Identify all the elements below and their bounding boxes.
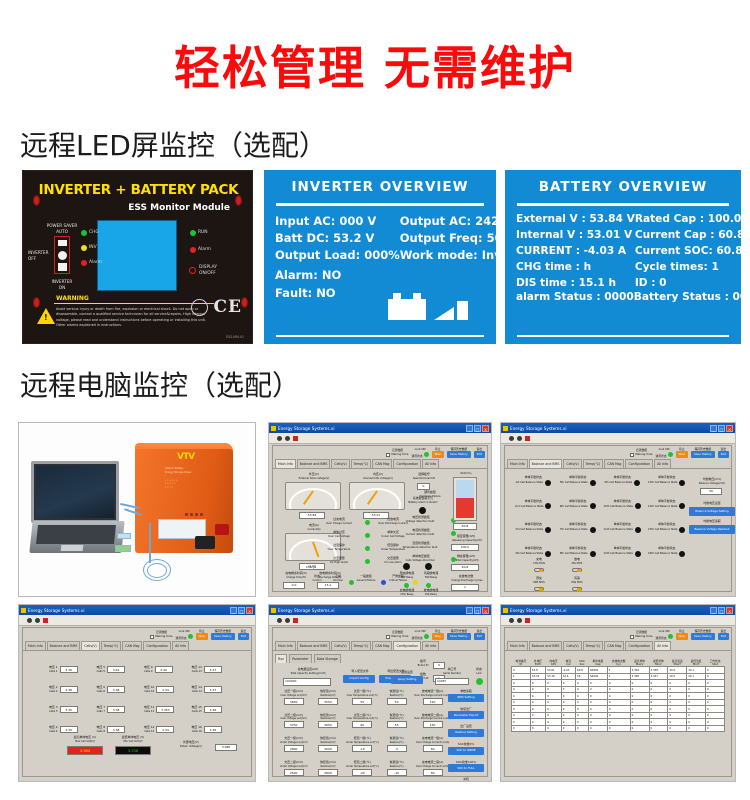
- stop-button[interactable]: Stop: [676, 633, 688, 640]
- tab-main-info[interactable]: Main Info: [25, 641, 46, 650]
- config-side-button[interactable]: Parameter Export: [448, 711, 484, 719]
- battery-overview-panel: BATTERY OVERVIEW External V : 53.84 V Ra…: [505, 170, 741, 344]
- tab-configuration[interactable]: Configuration: [393, 459, 421, 468]
- run-continuous-icon[interactable]: [35, 618, 40, 623]
- switch-position-top[interactable]: [58, 240, 67, 246]
- stop-group[interactable]: 停止 Stop: [196, 630, 208, 640]
- software-window-all-info: Energy Storage Systems.vi _ □ × 记录数据 Mak…: [500, 604, 736, 782]
- field-current: CURRENT : -4.03 A: [516, 245, 635, 257]
- exit-group[interactable]: 退出 Exit: [474, 630, 485, 640]
- balance-voltage-readout-button[interactable]: Balance Voltage Readout: [689, 525, 735, 534]
- cell-voltage-value: 3.42: [107, 666, 125, 673]
- tab-can-msg[interactable]: CAN Msg: [604, 459, 624, 468]
- cell-balance-led: [545, 480, 551, 486]
- record-checkbox[interactable]: [150, 635, 154, 639]
- inverter-overview-title: INVERTER OVERVIEW: [264, 170, 496, 195]
- config-side-button-group[interactable]: SOC校准100%SOC to FULL: [448, 761, 484, 773]
- serial-input[interactable]: COM3: [435, 678, 469, 685]
- tab-configuration[interactable]: Configuration: [625, 459, 653, 468]
- exit-group[interactable]: 退出 Exit: [238, 630, 249, 640]
- config-param-input[interactable]: 3550: [318, 698, 338, 705]
- tabbar[interactable]: Main Info Balance and BMS Cells(V) Temp(…: [273, 460, 487, 469]
- gauge-external-voltage: [285, 482, 341, 510]
- mos-1-toggle[interactable]: [534, 568, 544, 572]
- tab-cells[interactable]: Cells(V): [331, 459, 349, 468]
- led-inv-indicator: [81, 245, 87, 251]
- config-param-input[interactable]: 3000: [318, 745, 338, 752]
- cell-balance-grid: 单体平衡状态1st Cell Balance State单体平衡状态5th Ce…: [511, 476, 689, 557]
- run-icon[interactable]: [509, 618, 514, 623]
- config-side-buttons[interactable]: 参数读取BMS Setting恢复出厂Parameter Export出厂设置R…: [448, 690, 484, 782]
- config-param-input[interactable]: 2800: [318, 769, 338, 776]
- window-title: Energy Storage Systems.vi: [510, 426, 566, 431]
- config-param-input[interactable]: 150: [423, 721, 443, 728]
- field-label: Cycle times:: [635, 261, 708, 273]
- record-checkbox[interactable]: [630, 635, 634, 639]
- cell-balance-led: [679, 503, 685, 509]
- config-param-input[interactable]: 80: [423, 769, 443, 776]
- lv-toolbar[interactable]: [269, 615, 491, 626]
- config-param-input[interactable]: 50: [387, 698, 407, 705]
- config-param-item: 过压二级(mV)Over Voltage Lv2(mV)3750: [277, 714, 310, 729]
- prot-l3-en: Over Temperature: [315, 548, 363, 551]
- import-config-button[interactable]: Import Config: [343, 675, 375, 683]
- config-param-label-en: Under Voltage Lv2(mV): [277, 765, 310, 768]
- cell-balance-label-en: 14th Cell Balance State: [648, 505, 677, 508]
- lv-toolbar[interactable]: [501, 433, 735, 444]
- minimize-button[interactable]: _: [710, 425, 717, 432]
- save-label-cn: 保存历史数据: [691, 630, 715, 633]
- tab-temp[interactable]: Temp(℃): [351, 459, 372, 468]
- save-history-group[interactable]: 保存历史数据 Save History: [447, 448, 471, 458]
- field-unit: h: [584, 261, 592, 273]
- tab-all-info[interactable]: All Info: [654, 641, 671, 650]
- abort-icon[interactable]: [293, 436, 298, 441]
- stop-button[interactable]: Stop: [432, 633, 444, 640]
- tab-temp[interactable]: Temp(℃): [101, 641, 122, 650]
- cell-voltage-value: 3.36: [204, 726, 222, 733]
- field-cycle-times: Cycle times: 1: [635, 261, 741, 273]
- config-side-button[interactable]: SOC to 0/EMP: [448, 747, 484, 755]
- cell-balance-led: [634, 480, 640, 486]
- tab-all-info[interactable]: All Info: [172, 641, 189, 650]
- config-param-label-en: Restore(mV): [311, 694, 344, 697]
- cell-balance-label-en: 16th Cell Balance State: [648, 552, 677, 555]
- lv-toolbar[interactable]: [269, 433, 491, 444]
- table-body: 053.853.01-4.0360.86080013.3643.33830.53…: [512, 667, 725, 732]
- window-controls[interactable]: _ □ ×: [466, 425, 489, 432]
- save-label-cn: 保存历史数据: [211, 630, 235, 633]
- config-param-label-en: Under Voltage Lv1(mV): [277, 741, 310, 744]
- tab-main-info[interactable]: Main Info: [507, 641, 528, 650]
- tabbar[interactable]: Main Info Balance and BMS Cells(V) Temp(…: [505, 460, 731, 469]
- exit-group[interactable]: 退出 Exit: [718, 630, 729, 640]
- run-continuous-icon[interactable]: [285, 436, 290, 441]
- config-param-input[interactable]: -5: [387, 745, 407, 752]
- tab-configuration[interactable]: Configuration: [143, 641, 171, 650]
- tab-can-msg[interactable]: CAN Msg: [372, 641, 392, 650]
- save-history-group[interactable]: 保存历史数据 Save History: [691, 448, 715, 458]
- cell-balance-led: [590, 503, 596, 509]
- config-param-input[interactable]: 2500: [284, 769, 304, 776]
- comm-status-group: Link ON 通讯状态: [656, 448, 673, 458]
- config-param-label-en: Over Charge Current Lv2(A): [414, 765, 451, 768]
- save-history-button[interactable]: Save History: [211, 633, 235, 640]
- config-side-button-group[interactable]: 恢复出厂Parameter Export: [448, 708, 484, 720]
- stop-button[interactable]: Stop: [676, 451, 688, 458]
- tab-configuration[interactable]: Configuration: [393, 641, 421, 650]
- tab-balance-bms[interactable]: Balance and BMS: [529, 459, 563, 468]
- cell-voltage-item: 电压 16Cells 163.36: [192, 726, 240, 733]
- field-label: Current SOC:: [635, 245, 713, 257]
- field-value: 1: [711, 261, 718, 273]
- cur-cap-value: 60.8: [451, 564, 479, 571]
- config-param-item: 恢复值(mV)Restore(mV)2800: [311, 761, 344, 776]
- maximize-button[interactable]: □: [474, 607, 481, 614]
- tabbar[interactable]: Main Info Balance and BMS Cells(V) Temp(…: [273, 642, 487, 651]
- field-label: CURRENT :: [516, 245, 580, 257]
- field-value: 000: [339, 214, 363, 228]
- window-controls[interactable]: _ □ ×: [230, 607, 253, 614]
- close-button[interactable]: ×: [726, 425, 733, 432]
- tab-balance-bms[interactable]: Balance and BMS: [297, 459, 331, 468]
- stop-group[interactable]: 停止 Stop: [432, 630, 444, 640]
- rated-cap-value: 100.0: [451, 544, 479, 551]
- table-cell: 0: [687, 725, 706, 732]
- minimize-button[interactable]: _: [230, 607, 237, 614]
- config-side-button[interactable]: BMS Setting: [448, 694, 484, 702]
- cell-voltage-label-en: Cells 10: [144, 690, 154, 693]
- led-alarm-label: Alarm: [89, 260, 102, 265]
- cell-balance-item: 单体平衡状态4th Cell Balance State: [511, 547, 556, 557]
- cell-voltage-label-en: Cells 4: [49, 730, 58, 733]
- table-row[interactable]: 000000000000: [512, 725, 725, 732]
- window-title: Energy Storage Systems.vi: [510, 608, 566, 613]
- laptop-touchpad: [61, 545, 84, 551]
- config-param-label-en: Restore(mV): [311, 741, 344, 744]
- window-titlebar: Energy Storage Systems.vi _ □ ×: [269, 423, 491, 433]
- cur-cap-label-en: Total Capacity(AH): [445, 559, 489, 562]
- cell-voltage-item: 电压 15Cells 153.36: [192, 706, 240, 713]
- cell-voltage-item: 电压 3Cells 33.35: [49, 706, 97, 713]
- abort-icon[interactable]: [293, 618, 298, 623]
- run-continuous-icon[interactable]: [517, 618, 522, 623]
- maximize-button[interactable]: □: [718, 425, 725, 432]
- config-param-item: 放电电流二级(A)Over Discharge Current Lv2(A)15…: [414, 714, 451, 729]
- field-label: Battery Status :: [634, 291, 729, 303]
- config-param-item: 低温一级(℃)Under Temperature Lv1(℃)-10: [346, 737, 379, 752]
- tab-temp[interactable]: Temp(℃): [583, 459, 604, 468]
- config-param-label-en: Over Voltage Lv2(mV): [277, 717, 310, 720]
- minimize-button[interactable]: _: [466, 425, 473, 432]
- maximize-button[interactable]: □: [238, 607, 245, 614]
- cell-voltage-label-en: Cells 8: [97, 730, 106, 733]
- config-param-label-en: Over Temperature Lv1(℃): [346, 694, 379, 697]
- table-cell: 0: [589, 725, 608, 732]
- ce-mark-icon: CE: [214, 297, 243, 317]
- config-param-input[interactable]: 2800: [284, 745, 304, 752]
- close-button[interactable]: ×: [482, 607, 489, 614]
- cell-voltage-item: 电压 4Cells 43.39: [49, 726, 97, 733]
- field-label: Output Freq:: [400, 231, 483, 245]
- config-param-label-en: Under Temperature Lv1(℃): [346, 741, 379, 744]
- record-label-en: Making time: [635, 635, 652, 638]
- prot-r2-en: Under Cell Voltage: [369, 535, 417, 538]
- field-label: Batt DC:: [275, 231, 329, 245]
- mos-3-toggle[interactable]: [534, 587, 544, 591]
- config-side-button-group[interactable]: 关机Power Off: [448, 778, 484, 782]
- total-cap-input[interactable]: 100000: [283, 678, 331, 686]
- part-code-label: ESS-MM-01: [226, 335, 244, 339]
- config-param-item: 欠压二级(mV)Under Voltage Lv2(mV)2500: [277, 761, 310, 776]
- tab-main-info[interactable]: Main Info: [275, 459, 296, 468]
- exit-button[interactable]: Exit: [718, 633, 729, 640]
- tab-cells[interactable]: Cells(V): [331, 641, 349, 650]
- divider: [517, 335, 729, 338]
- config-side-button-group[interactable]: 参数读取BMS Setting: [448, 690, 484, 702]
- field-fault: Fault: NO: [275, 286, 485, 300]
- exit-button[interactable]: Exit: [238, 633, 249, 640]
- run-icon[interactable]: [277, 618, 282, 623]
- app-icon: [21, 608, 26, 613]
- cell-voltage-value: 3.36: [107, 686, 125, 693]
- exit-button[interactable]: Exit: [718, 451, 729, 458]
- config-param-input[interactable]: -20: [352, 769, 372, 776]
- cell-balance-item: 单体平衡状态9th Cell Balance State: [600, 476, 645, 486]
- cell-voltage-item: 电压 10Cells 103.34: [144, 686, 192, 693]
- table-column-header: 充放电次数Cyc: [607, 660, 630, 667]
- config-param-label-en: Over Charge Current Lv1(A): [414, 741, 451, 744]
- soc-tank: [453, 477, 477, 521]
- config-param-input[interactable]: 3750: [284, 721, 304, 728]
- legend-2-en: General Failure: [351, 579, 381, 582]
- battery-icon: [388, 292, 426, 320]
- tab-cells[interactable]: Cells(V): [81, 641, 99, 650]
- mos-4-en: FAN MOS: [565, 581, 589, 584]
- balance-voltage-input[interactable]: 30: [700, 488, 722, 495]
- tab-all-info[interactable]: All Info: [654, 459, 671, 468]
- config-param-input[interactable]: 60: [423, 745, 443, 752]
- tab-can-msg[interactable]: CAN Msg: [122, 641, 142, 650]
- mos-2-toggle[interactable]: [572, 568, 582, 572]
- table-column-header: 最高单体MaxV: [630, 660, 649, 667]
- tab-temp[interactable]: Temp(℃): [351, 641, 372, 650]
- exit-group[interactable]: 退出 Exit: [474, 448, 485, 458]
- apply-setting-action-button[interactable]: Apply Setting: [391, 676, 423, 684]
- minimize-button[interactable]: _: [710, 607, 717, 614]
- tab-can-msg[interactable]: CAN Msg: [604, 641, 624, 650]
- window-controls[interactable]: _ □ ×: [710, 607, 733, 614]
- field-value: 242: [475, 214, 496, 228]
- cell-voltage-item: 电压 11Cells 113.353: [144, 706, 192, 713]
- close-button[interactable]: ×: [482, 425, 489, 432]
- switch-position-bottom[interactable]: [58, 263, 67, 271]
- field-label: Output AC:: [400, 214, 471, 228]
- field-value: 100.0: [708, 213, 741, 225]
- laptop-keyboard: [36, 525, 116, 544]
- stop-group[interactable]: 停止 Stop: [432, 448, 444, 458]
- save-history-button[interactable]: Save History: [447, 633, 471, 640]
- close-button[interactable]: ×: [726, 607, 733, 614]
- switch-position-mid[interactable]: [58, 251, 67, 260]
- power-saver-label-line2: AUTO: [43, 229, 81, 234]
- tab-configuration[interactable]: Configuration: [625, 641, 653, 650]
- display-onoff-label-line2: ON/OFF: [199, 271, 216, 276]
- table-column-header: 内电压IntV: [546, 660, 561, 667]
- run-continuous-icon[interactable]: [285, 618, 290, 623]
- cell-balance-led: [679, 527, 685, 533]
- software-window-configuration: Energy Storage Systems.vi _ □ × 记录数据 Mak…: [268, 604, 492, 782]
- blue-cable-coil: [147, 563, 167, 578]
- config-param-input[interactable]: 3650: [284, 698, 304, 705]
- table-column-header: 外电压ExtV: [530, 660, 545, 667]
- config-param-input[interactable]: 55: [352, 698, 372, 705]
- screw-icon: [241, 297, 248, 308]
- window-controls[interactable]: _ □ ×: [466, 607, 489, 614]
- stop-group[interactable]: 停止 Stop: [676, 448, 688, 458]
- record-checkbox[interactable]: [386, 453, 390, 457]
- tab-cells[interactable]: Cells(V): [563, 641, 581, 650]
- cell-balance-led: [635, 551, 641, 557]
- stop-button[interactable]: Stop: [196, 633, 208, 640]
- save-history-button[interactable]: Save History: [447, 451, 471, 458]
- inverter-rocker-switch[interactable]: [54, 236, 70, 274]
- run-icon[interactable]: [27, 618, 32, 623]
- subtab-data-storage[interactable]: Data Storage: [314, 654, 341, 663]
- display-onoff-button[interactable]: [189, 267, 196, 274]
- cell-voltage-item: 电压 6Cells 63.36: [97, 686, 145, 693]
- cell-voltage-item: 电压 2Cells 23.38: [49, 686, 97, 693]
- config-param-label-en: Restore(mV): [311, 717, 344, 720]
- field-external-v: External V : 53.84 V: [516, 213, 635, 225]
- lv-toolbar[interactable]: [501, 615, 735, 626]
- config-param-input[interactable]: 120: [423, 698, 443, 705]
- mos-4-toggle[interactable]: [572, 587, 582, 591]
- record-label-en: Making time: [391, 453, 408, 456]
- app-icon: [271, 426, 276, 431]
- cell-voltage-value: 3.34: [156, 686, 174, 693]
- save-history-group[interactable]: 保存历史数据 Save History: [447, 630, 471, 640]
- led-chg-indicator: [81, 230, 87, 236]
- save-history-group[interactable]: 保存历史数据 Save History: [691, 630, 715, 640]
- config-param-input[interactable]: 55: [387, 721, 407, 728]
- tab-balance-bms[interactable]: Balance and BMS: [297, 641, 331, 650]
- maximize-button[interactable]: □: [718, 607, 725, 614]
- stop-group[interactable]: 停止 Stop: [676, 630, 688, 640]
- tab-can-msg[interactable]: CAN Msg: [372, 459, 392, 468]
- cycle-label-en: Charge Discharge Cycles: [445, 579, 489, 582]
- software-window-cells: Energy Storage Systems.vi _ □ × 记录数据 Mak…: [18, 604, 256, 782]
- config-side-button[interactable]: SOC to FULL: [448, 764, 484, 772]
- cell-voltage-label-en: Cells 14: [192, 690, 202, 693]
- close-button[interactable]: ×: [246, 607, 253, 614]
- abort-icon[interactable]: [525, 618, 530, 623]
- maximize-button[interactable]: □: [474, 425, 481, 432]
- config-param-input[interactable]: 60: [352, 721, 372, 728]
- tab-all-info[interactable]: All Info: [422, 641, 439, 650]
- cell-balance-item: 单体平衡状态10th Cell Balance State: [600, 500, 645, 510]
- cell-voltage-value: 3.40: [155, 666, 173, 673]
- minimize-button[interactable]: _: [466, 607, 473, 614]
- led-run-label: RUN: [198, 230, 208, 235]
- config-side-button-group[interactable]: SOC校准0%SOC to 0/EMP: [448, 743, 484, 755]
- window-titlebar: Energy Storage Systems.vi _ □ ×: [501, 423, 735, 433]
- tabbar[interactable]: Main Info Balance and BMS Cells(V) Temp(…: [23, 642, 251, 651]
- tab-main-info[interactable]: Main Info: [507, 459, 528, 468]
- save-history-button[interactable]: Save History: [691, 633, 715, 640]
- comm-status-group: Link ON 通讯状态: [412, 630, 429, 640]
- screw-icon: [235, 195, 242, 206]
- all-info-table-wrap: 电池编号ID外电压ExtV内电压IntV电流CurSOCSoc剩余电量Cap充放…: [511, 660, 725, 732]
- abort-icon[interactable]: [43, 618, 48, 623]
- record-checkbox[interactable]: [386, 635, 390, 639]
- tab-all-info[interactable]: All Info: [422, 459, 439, 468]
- tab-balance-bms[interactable]: Balance and BMS: [529, 641, 563, 650]
- subtab-parameter[interactable]: Parameter: [289, 654, 312, 663]
- config-param-item: 放电电流一级(A)Over Discharge Current Lv1(A)12…: [414, 690, 451, 705]
- abort-icon[interactable]: [525, 436, 530, 441]
- gauge-external-label-en: External total voltage(V): [279, 477, 349, 480]
- subtab-run[interactable]: Run: [275, 654, 287, 663]
- window-controls[interactable]: _ □ ×: [710, 425, 733, 432]
- table-column-header: 最高温度MaxT: [668, 660, 687, 667]
- exit-button[interactable]: Exit: [474, 451, 485, 458]
- config-side-button-group[interactable]: 出厂设置Restore Setting: [448, 725, 484, 737]
- balance-voltage-setting-button[interactable]: Balance Voltage Setting: [689, 507, 735, 516]
- tab-main-info[interactable]: Main Info: [275, 641, 296, 650]
- recycle-icon: [191, 299, 208, 316]
- link-state-led: [476, 678, 483, 685]
- config-param-input[interactable]: -10: [387, 769, 407, 776]
- laptop-inverter-photo: VTV Lithium BatteryEnergy Storage Power …: [18, 422, 256, 597]
- config-param-input[interactable]: 3650: [318, 721, 338, 728]
- board-select-input[interactable]: 0: [417, 483, 430, 490]
- lv-toolbar[interactable]: [19, 615, 255, 626]
- field-battery-status: Battery Status : 0003: [634, 291, 741, 303]
- save-history-button[interactable]: Save History: [691, 451, 715, 458]
- stop-button[interactable]: Stop: [432, 451, 444, 458]
- cell-voltage-value: 3.39: [60, 726, 78, 733]
- fault-heading-en: Hardware Failure: [404, 495, 456, 498]
- tab-cells[interactable]: Cells(V): [563, 459, 581, 468]
- tab-temp[interactable]: Temp(℃): [583, 641, 604, 650]
- cell-balance-label-en: 11th Cell Balance State: [604, 528, 633, 531]
- led-monitor-faceplate: INVERTER + BATTERY PACK ESS Monitor Modu…: [22, 170, 253, 344]
- field-unit: h: [608, 277, 616, 289]
- tab-balance-bms[interactable]: Balance and BMS: [47, 641, 81, 650]
- field-rated-cap: Rated Cap : 100.0 AH: [635, 213, 741, 225]
- record-checkbox[interactable]: [630, 453, 634, 457]
- config-subtabs[interactable]: Run Parameter Data Storage: [275, 654, 342, 663]
- exit-button[interactable]: Exit: [474, 633, 485, 640]
- run-continuous-icon[interactable]: [517, 436, 522, 441]
- cell-voltage-item: 电压 9Cells 93.40: [144, 666, 192, 673]
- config-param-input[interactable]: -10: [352, 745, 372, 752]
- save-label-cn: 保存历史数据: [447, 630, 471, 633]
- exit-group[interactable]: 退出 Exit: [718, 448, 729, 458]
- table-column-header: 电流Cur: [561, 660, 575, 667]
- record-data-group: 记录数据 Making time: [630, 449, 652, 456]
- field-current-soc: Current SOC: 60.8: [635, 245, 741, 257]
- config-side-button[interactable]: Restore Setting: [448, 729, 484, 737]
- save-history-group[interactable]: 保存历史数据 Save History: [211, 630, 235, 640]
- inverter-off-label-line1: INVERTER: [28, 250, 49, 255]
- run-icon[interactable]: [277, 436, 282, 441]
- soc-value: 60.8: [453, 523, 477, 530]
- tabbar[interactable]: Main Info Balance and BMS Cells(V) Temp(…: [505, 642, 731, 651]
- relay-fan-led: [425, 563, 432, 570]
- run-icon[interactable]: [509, 436, 514, 441]
